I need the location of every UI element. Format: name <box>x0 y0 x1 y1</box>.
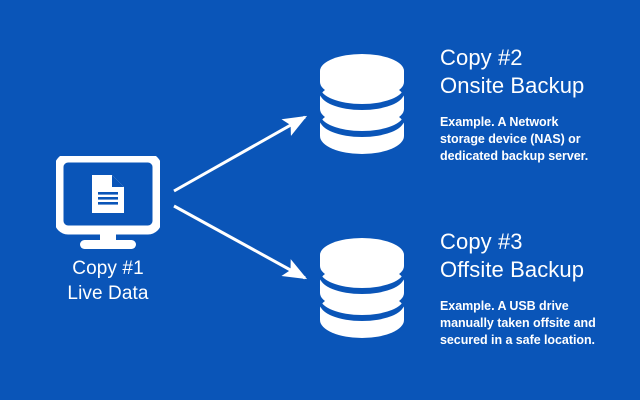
target-desc-line-3: secured in a safe location. <box>440 332 630 349</box>
target-text-offsite: Copy #3 Offsite Backup Example. A USB dr… <box>440 228 630 349</box>
diagram-canvas: Copy #1 Live Data Copy #2 Onsite Backup <box>0 0 640 400</box>
target-desc-line-1: Example. A Network <box>440 114 630 131</box>
target-title-onsite: Copy #2 Onsite Backup <box>440 44 630 100</box>
source-label-line-2: Live Data <box>38 281 178 306</box>
target-desc-offsite: Example. A USB drive manually taken offs… <box>440 298 630 349</box>
monitor-document-icon <box>56 156 160 252</box>
target-title-line-2: Onsite Backup <box>440 72 630 100</box>
target-title-line-2: Offsite Backup <box>440 256 630 284</box>
target-title-offsite: Copy #3 Offsite Backup <box>440 228 630 284</box>
source-label-line-1: Copy #1 <box>38 256 178 281</box>
target-desc-line-2: storage device (NAS) or <box>440 131 630 148</box>
target-text-onsite: Copy #2 Onsite Backup Example. A Network… <box>440 44 630 165</box>
target-desc-line-1: Example. A USB drive <box>440 298 630 315</box>
source-node-live-data: Copy #1 Live Data <box>38 156 178 306</box>
database-icon <box>312 236 412 346</box>
target-title-line-1: Copy #2 <box>440 44 630 72</box>
arrow-to-onsite-backup <box>174 117 305 191</box>
target-desc-line-2: manually taken offsite and <box>440 315 630 332</box>
target-title-line-1: Copy #3 <box>440 228 630 256</box>
target-desc-onsite: Example. A Network storage device (NAS) … <box>440 114 630 165</box>
target-desc-line-3: dedicated backup server. <box>440 148 630 165</box>
arrow-to-offsite-backup <box>174 206 305 278</box>
source-label: Copy #1 Live Data <box>38 256 178 306</box>
database-icon <box>312 52 412 162</box>
